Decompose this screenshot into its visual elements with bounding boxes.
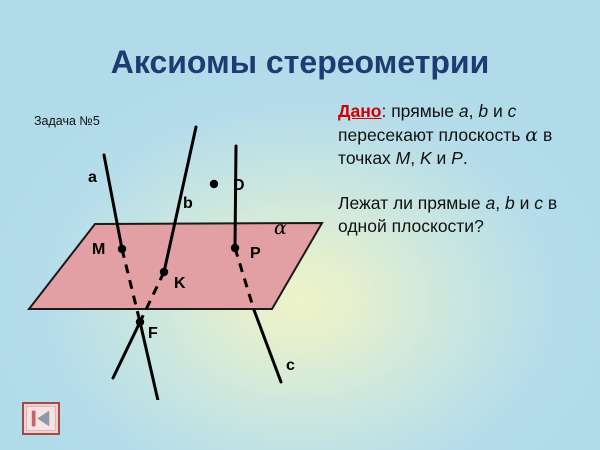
given-line-a: a [459,101,469,121]
given-period: . [463,148,468,168]
point-k-label: K [174,276,186,292]
skip-back-icon[interactable] [26,406,56,431]
back-bar [32,411,36,427]
point-p-label: P [250,246,261,262]
point-f-dot [136,318,144,326]
problem-text-panel: Дано: прямые a, b и c пересекают плоскос… [338,100,594,255]
question-statement: Лежат ли прямые a, b и c в одной плоскос… [338,192,594,238]
question-conj: и [515,193,535,213]
given-conj-1: и [488,101,508,121]
point-d-dot [210,180,218,188]
given-conj-2: и [432,148,452,168]
given-sep-1: , [469,101,479,121]
given-text-1: прямые [391,101,459,121]
given-line-c: c [508,101,517,121]
page-title: Аксиомы стереометрии [0,44,600,81]
given-plane-alpha: α [525,124,538,146]
point-m-dot [118,245,126,253]
line-b-below-plane [113,322,140,378]
given-point-m: M [396,148,411,168]
point-k-dot [160,268,168,276]
line-c-above-plane [235,146,236,248]
point-p-dot [231,244,239,252]
line-b-label: b [183,196,193,212]
plane-alpha-symbol: α [274,219,287,238]
question-sep: , [495,193,505,213]
given-point-p: P [451,148,463,168]
point-f-label: F [148,326,158,342]
given-point-k: K [420,148,432,168]
question-line-c: c [534,193,543,213]
given-colon: : [381,101,391,121]
given-line-b: b [478,101,488,121]
line-c-label: c [286,358,295,374]
given-sep-2: , [410,148,420,168]
slide-canvas: Аксиомы стереометрии Задача №5 [0,0,600,450]
line-c-below-plane [254,310,281,382]
point-m-label: M [92,242,105,258]
given-statement: Дано: прямые a, b и c пересекают плоскос… [338,100,594,170]
question-text-1: Лежат ли прямые [338,193,486,213]
point-d-label: D [233,178,245,194]
line-a-label: a [88,170,97,186]
question-line-a: a [486,193,496,213]
given-text-2: пересекают плоскость [338,125,525,145]
previous-slide-button[interactable] [22,402,60,435]
geometry-diagram: α a b c D M K P F [0,100,330,400]
question-line-b: b [505,193,515,213]
given-keyword: Дано [338,101,381,121]
diagram-svg [0,100,330,400]
